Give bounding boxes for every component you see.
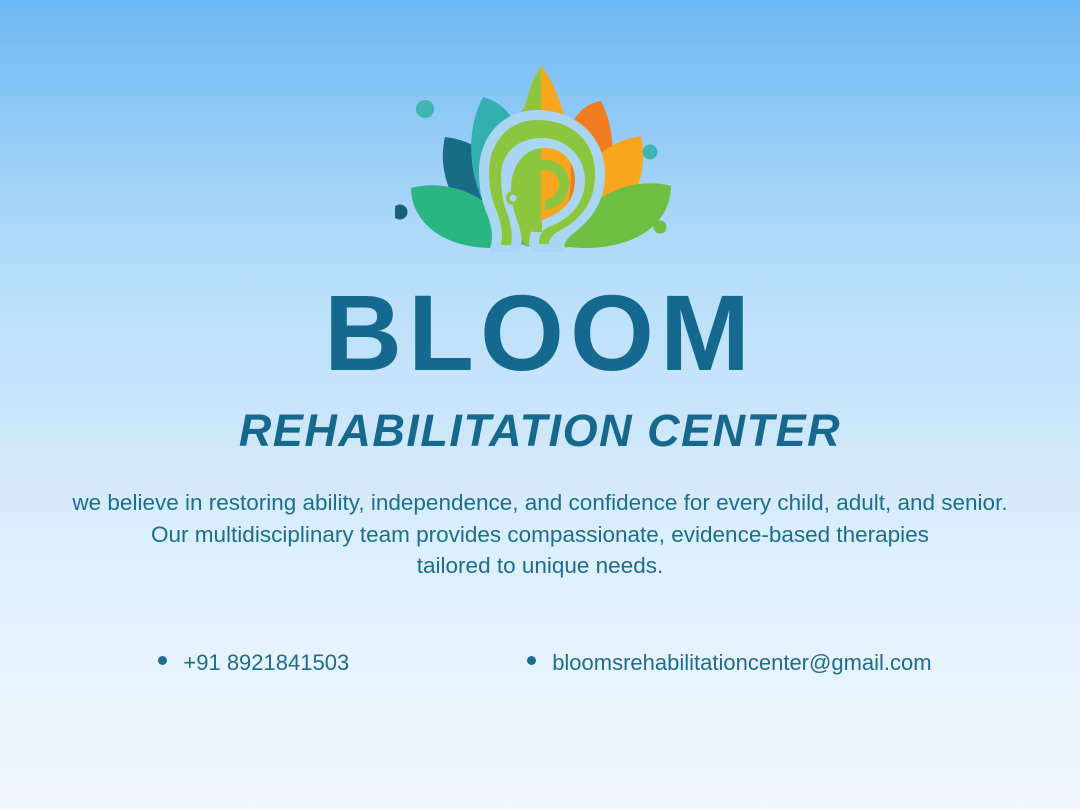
dot-top-left-icon (416, 100, 434, 118)
brand-name: BLOOM (0, 279, 1080, 387)
tagline-line-1: we believe in restoring ability, indepen… (0, 487, 1080, 519)
poster-canvas: BLOOM REHABILITATION CENTER we believe i… (0, 0, 1080, 810)
bullet-icon (527, 656, 536, 665)
logo-container (0, 52, 1080, 252)
contact-phone[interactable]: +91 8921841503 (158, 648, 349, 678)
tagline-line-3: tailored to unique needs. (0, 550, 1080, 582)
dot-right-lower-icon (654, 221, 667, 234)
contact-phone-value: +91 8921841503 (183, 648, 349, 678)
contact-list: +91 8921841503 bloomsrehabilitationcente… (0, 648, 1080, 678)
contact-email-value: bloomsrehabilitationcenter@gmail.com (552, 648, 931, 678)
contact-email[interactable]: bloomsrehabilitationcenter@gmail.com (527, 648, 931, 678)
lotus-ear-logo (395, 52, 685, 252)
dot-right-upper-icon (643, 145, 658, 160)
bullet-icon (158, 656, 167, 665)
tagline-line-2: Our multidisciplinary team provides comp… (0, 519, 1080, 551)
brand-subtitle: REHABILITATION CENTER (0, 408, 1080, 453)
dot-bottom-left-icon (395, 205, 408, 220)
tagline-block: we believe in restoring ability, indepen… (0, 487, 1080, 582)
